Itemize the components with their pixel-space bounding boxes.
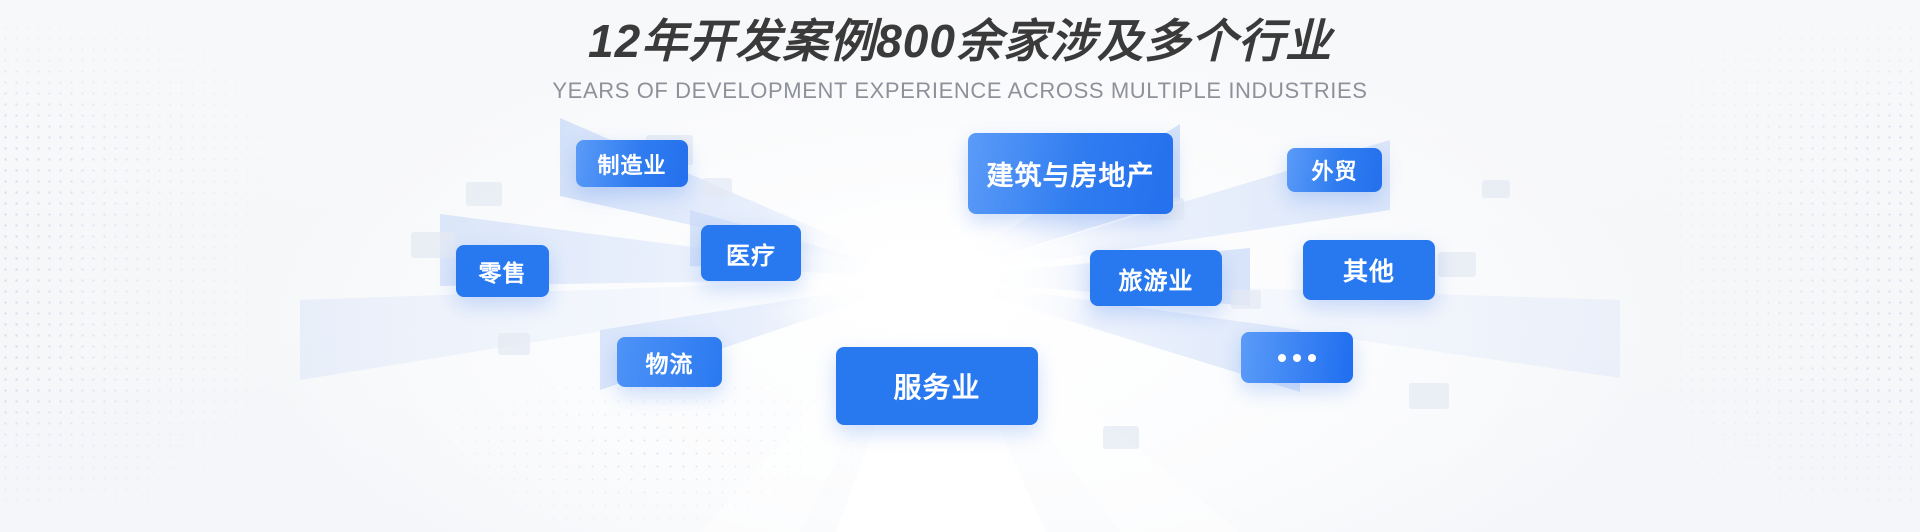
industry-tag[interactable]: 其他 xyxy=(1303,240,1435,300)
ghost-block xyxy=(1409,383,1449,409)
industry-tag[interactable]: 服务业 xyxy=(836,347,1038,425)
ghost-block xyxy=(411,232,455,258)
ghost-block xyxy=(1438,252,1476,277)
ghost-block xyxy=(466,182,502,206)
ghost-block xyxy=(1231,290,1261,309)
industry-tag-label: 旅游业 xyxy=(1119,261,1194,296)
industry-tag-label: 外贸 xyxy=(1311,154,1357,186)
industry-tag[interactable]: 零售 xyxy=(456,245,549,297)
page-title: 12年开发案例800余家涉及多个行业 xyxy=(0,0,1920,68)
industries-banner: 12年开发案例800余家涉及多个行业 YEARS OF DEVELOPMENT … xyxy=(0,0,1920,532)
page-subtitle: YEARS OF DEVELOPMENT EXPERIENCE ACROSS M… xyxy=(0,68,1920,104)
ellipsis-dots-icon xyxy=(1278,354,1316,362)
industry-tag[interactable]: 旅游业 xyxy=(1090,250,1222,306)
ghost-block xyxy=(702,178,732,197)
heading-group: 12年开发案例800余家涉及多个行业 YEARS OF DEVELOPMENT … xyxy=(0,0,1920,104)
industry-tag[interactable]: 制造业 xyxy=(576,140,688,187)
industry-tag[interactable]: 医疗 xyxy=(701,225,801,281)
industry-tag-label: 物流 xyxy=(646,345,694,379)
ghost-block xyxy=(498,333,530,355)
industry-tag-label: 其他 xyxy=(1343,252,1395,288)
industry-tag-label: 制造业 xyxy=(597,148,666,180)
industry-tag[interactable]: 建筑与房地产 xyxy=(968,133,1173,214)
industry-tag[interactable] xyxy=(1241,332,1353,383)
ghost-block xyxy=(1482,180,1510,198)
industry-tag[interactable]: 物流 xyxy=(617,337,722,387)
industry-tag-label: 零售 xyxy=(479,254,527,288)
industry-tag[interactable]: 外贸 xyxy=(1287,148,1382,192)
ghost-block xyxy=(1103,426,1139,449)
industry-tag-label: 医疗 xyxy=(726,236,776,271)
industry-tag-label: 建筑与房地产 xyxy=(987,154,1155,193)
industry-tag-label: 服务业 xyxy=(893,366,980,406)
